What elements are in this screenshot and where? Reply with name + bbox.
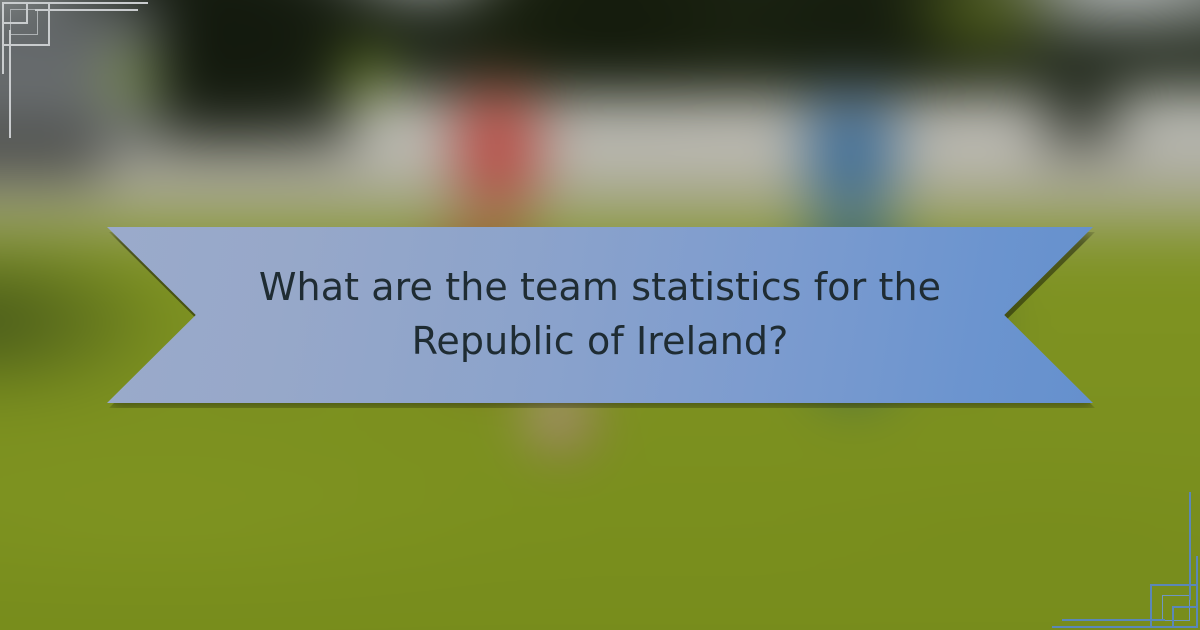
player-red-head	[479, 72, 529, 122]
question-text: What are the team statistics for the Rep…	[107, 227, 1093, 403]
shed-structure-left	[0, 122, 103, 187]
question-ribbon: What are the team statistics for the Rep…	[107, 227, 1093, 403]
white-fence-right	[1118, 91, 1200, 156]
player-blue-head	[827, 70, 877, 120]
grass-patch-right	[708, 450, 1200, 612]
grass-patch-left	[0, 418, 557, 602]
tree-foliage-highlight	[892, 0, 1076, 72]
hi-vis-figure-center	[335, 31, 400, 117]
hi-vis-figure-left	[92, 40, 168, 116]
question-card: What are the team statistics for the Rep…	[0, 0, 1200, 630]
